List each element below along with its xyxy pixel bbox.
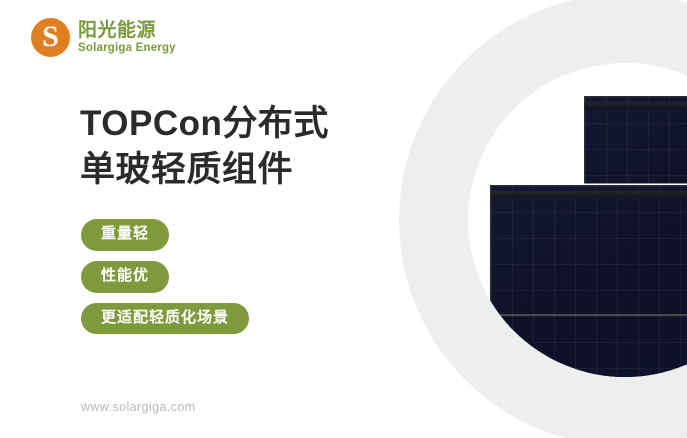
- promo-banner: S 阳光能源 Solargiga Energy TOPCon分布式 单玻轻质组件…: [0, 0, 687, 438]
- panel-top-rail: [491, 191, 687, 198]
- headline-line-2: 单玻轻质组件: [80, 147, 329, 193]
- brand-name-en: Solargiga Energy: [78, 42, 176, 54]
- feature-badge-performance: 性能优: [81, 261, 169, 293]
- brand-name-cn: 阳光能源: [78, 21, 176, 41]
- page-title: TOPCon分布式 单玻轻质组件: [80, 101, 329, 193]
- product-image: [468, 63, 687, 377]
- logo-mark-letter: S: [42, 22, 59, 52]
- headline-line-1: TOPCon分布式: [80, 101, 329, 147]
- feature-badge-list: 重量轻 性能优 更适配轻质化场景: [81, 219, 249, 334]
- panel-top-rail: [585, 102, 687, 109]
- solar-panel-front: [490, 185, 687, 377]
- feature-badge-scenario: 更适配轻质化场景: [81, 303, 249, 335]
- panel-mid-bar: [493, 314, 687, 316]
- feature-badge-lightweight: 重量轻: [81, 219, 169, 251]
- brand-logo[interactable]: S 阳光能源 Solargiga Energy: [31, 18, 176, 57]
- website-url[interactable]: www.solargiga.com: [81, 400, 195, 414]
- logo-circle-s-icon: S: [31, 18, 70, 57]
- brand-name-block: 阳光能源 Solargiga Energy: [78, 21, 176, 54]
